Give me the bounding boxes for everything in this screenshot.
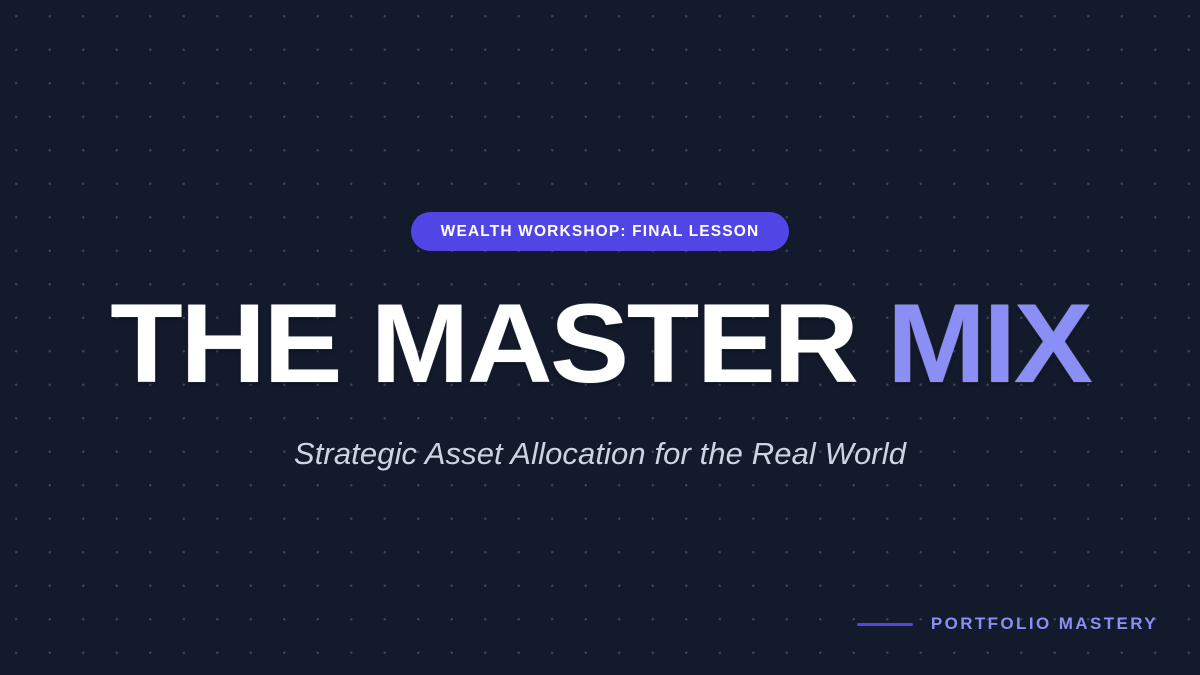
presentation-slide: WEALTH WORKSHOP: FINAL LESSON THE MASTER… — [0, 0, 1200, 675]
footer-brand-lockup: PORTFOLIO MASTERY — [857, 614, 1158, 634]
page-title-accent: MIX — [887, 281, 1090, 406]
eyebrow-badge-label: WEALTH WORKSHOP: FINAL LESSON — [441, 224, 760, 240]
page-subtitle: Strategic Asset Allocation for the Real … — [294, 436, 906, 472]
eyebrow-badge: WEALTH WORKSHOP: FINAL LESSON — [411, 212, 790, 251]
brand-label: PORTFOLIO MASTERY — [931, 614, 1158, 634]
horizontal-rule-icon — [857, 623, 913, 626]
slide-content: WEALTH WORKSHOP: FINAL LESSON THE MASTER… — [0, 212, 1200, 472]
page-title-primary: THE MASTER — [110, 281, 856, 406]
page-title: THE MASTER MIX — [110, 298, 1090, 390]
